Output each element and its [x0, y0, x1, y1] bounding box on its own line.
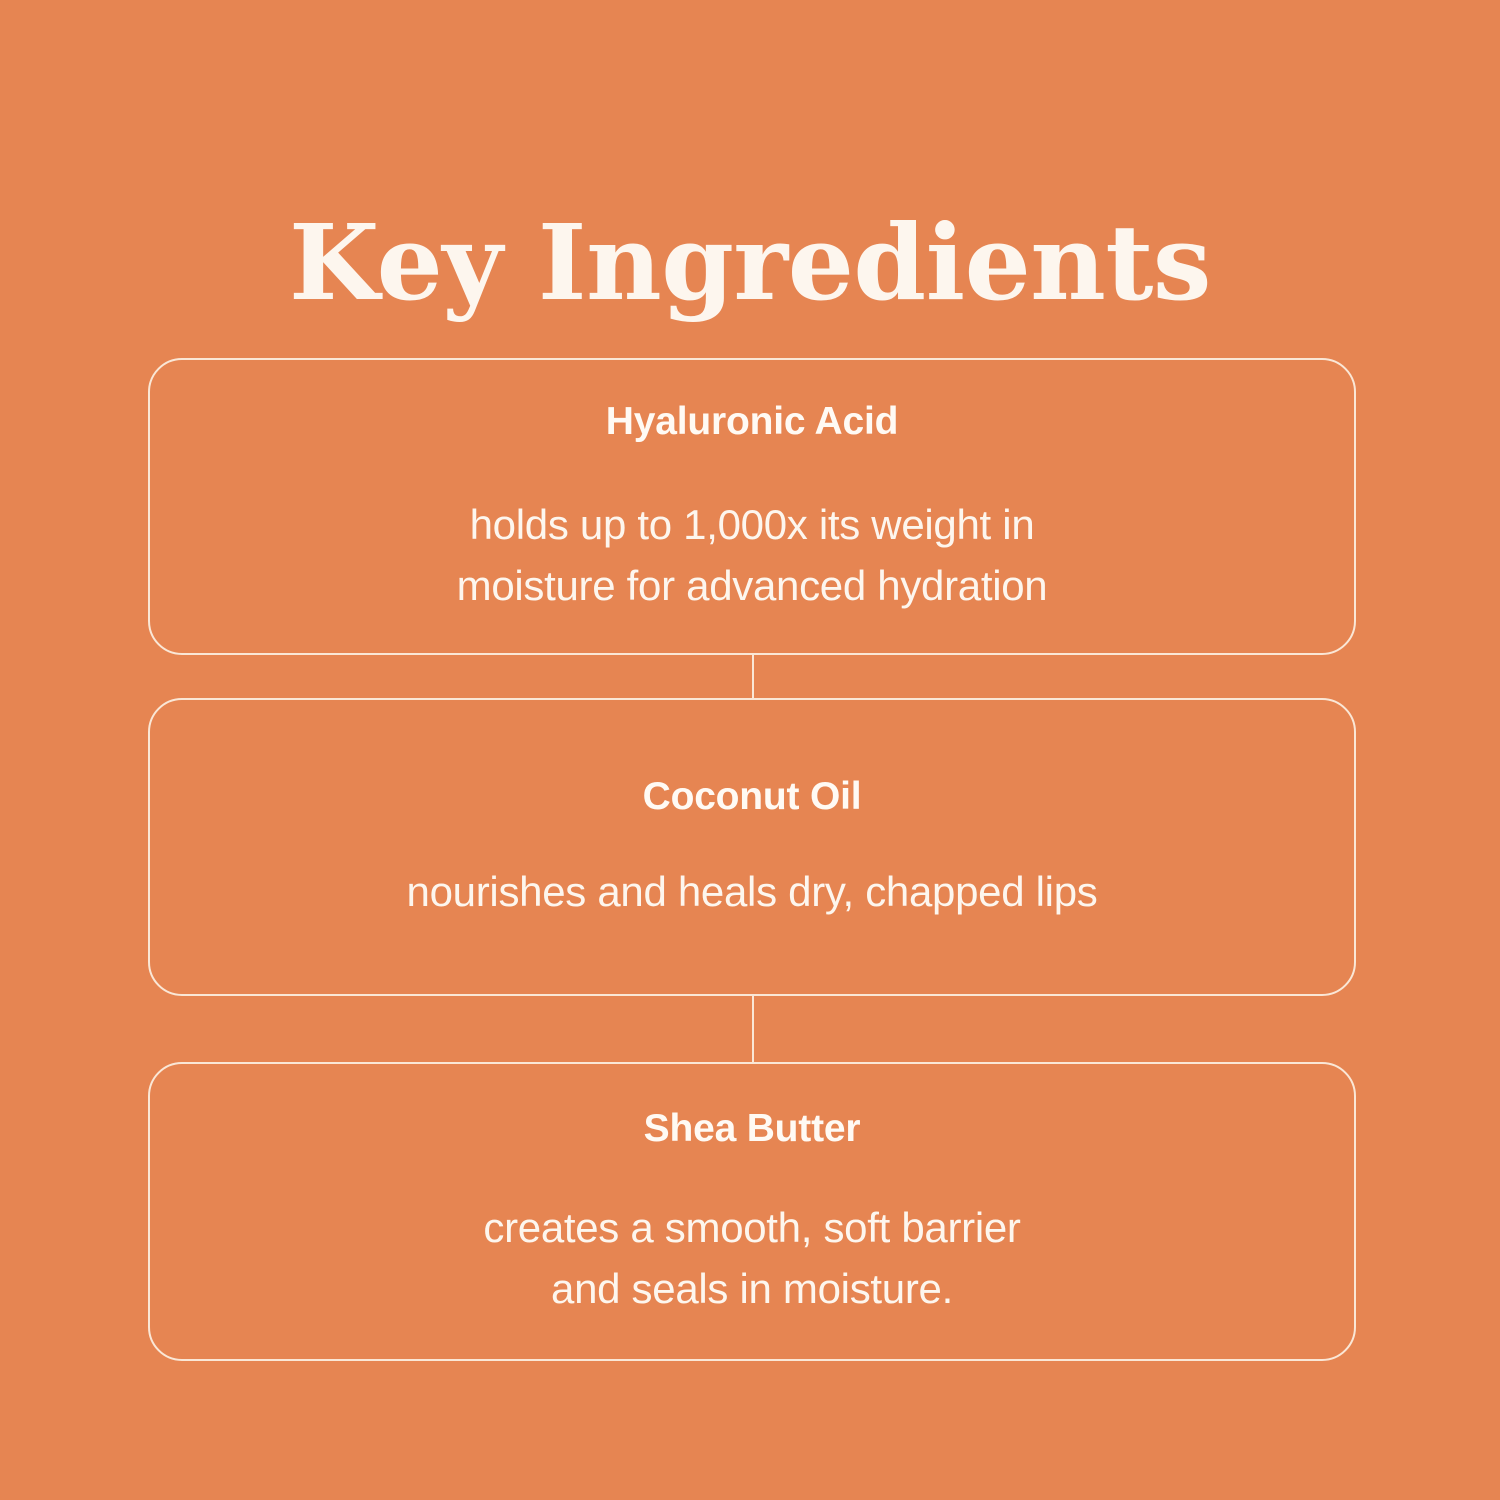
connector-line-2	[752, 996, 754, 1062]
ingredient-name: Hyaluronic Acid	[606, 398, 898, 446]
key-ingredients-infographic: Key Ingredients Hyaluronic Acid holds up…	[0, 0, 1500, 1500]
ingredient-name: Shea Butter	[644, 1105, 861, 1153]
ingredient-description: holds up to 1,000x its weight in moistur…	[457, 494, 1048, 616]
ingredient-card-hyaluronic-acid: Hyaluronic Acid holds up to 1,000x its w…	[148, 358, 1356, 655]
page-title: Key Ingredients	[0, 203, 1500, 323]
ingredient-card-coconut-oil: Coconut Oil nourishes and heals dry, cha…	[148, 698, 1356, 996]
ingredient-card-stack: Hyaluronic Acid holds up to 1,000x its w…	[148, 358, 1356, 1361]
ingredient-description: nourishes and heals dry, chapped lips	[407, 861, 1098, 922]
connector-line-1	[752, 655, 754, 698]
ingredient-card-shea-butter: Shea Butter creates a smooth, soft barri…	[148, 1062, 1356, 1361]
ingredient-name: Coconut Oil	[643, 773, 862, 821]
ingredient-description: creates a smooth, soft barrier and seals…	[483, 1197, 1020, 1319]
